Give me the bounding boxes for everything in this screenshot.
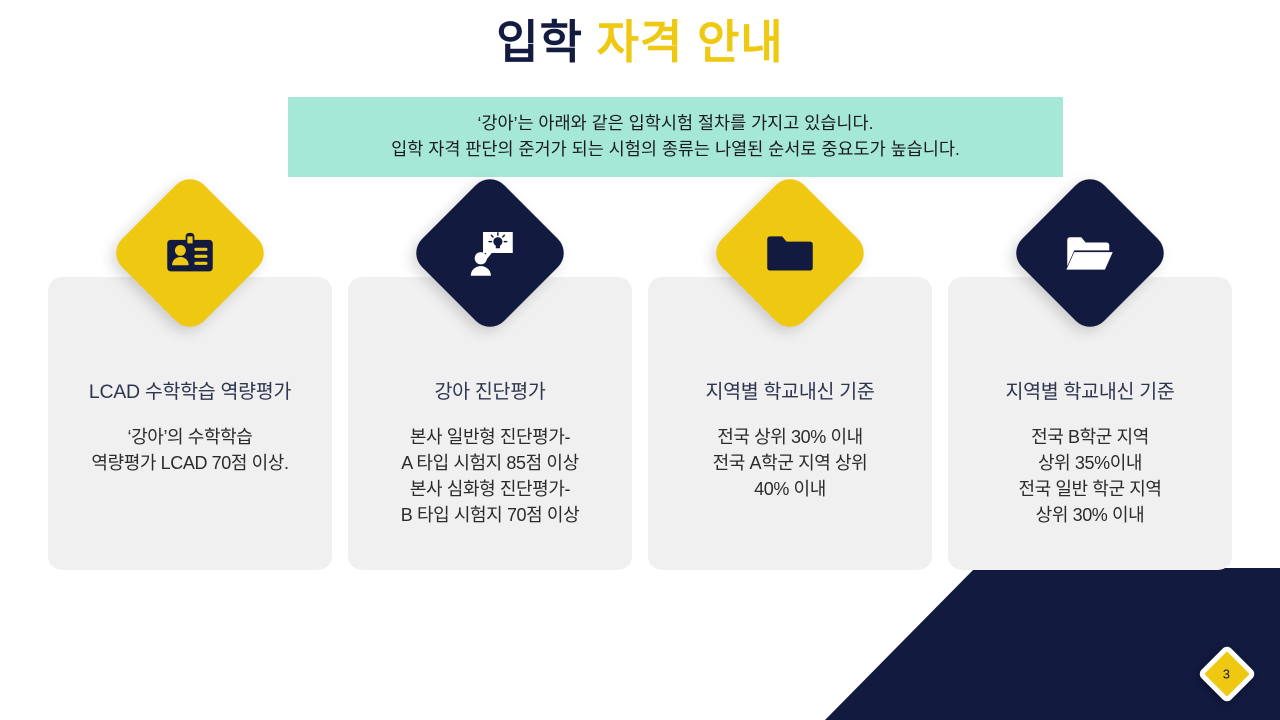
card-icon-diamond (1008, 171, 1172, 335)
card-icon-diamond (408, 171, 572, 335)
id-badge-icon (158, 221, 222, 285)
person-idea-bubble-icon (458, 221, 522, 285)
subtitle-line-1: ‘강아’는 아래와 같은 입학시험 절차를 가지고 있습니다. (477, 112, 873, 136)
card-title: LCAD 수학학습 역량평가 (89, 375, 291, 404)
card-icon-diamond (708, 171, 872, 335)
criteria-card[interactable]: 강아 진단평가 본사 일반형 진단평가- A 타입 시험지 85점 이상 본사 … (348, 277, 632, 570)
card-title: 지역별 학교내신 기준 (706, 375, 875, 404)
card-body: ‘강아’의 수학학습 역량평가 LCAD 70점 이상. (91, 424, 288, 476)
subtitle-banner: ‘강아’는 아래와 같은 입학시험 절차를 가지고 있습니다. 입학 자격 판단… (288, 97, 1063, 177)
criteria-card-row: LCAD 수학학습 역량평가 ‘강아’의 수학학습 역량평가 LCAD 70점 … (48, 277, 1232, 570)
card-body-line: B 타입 시험지 70점 이상 (401, 502, 580, 528)
page-number-label: 3 (1223, 666, 1230, 681)
card-body: 본사 일반형 진단평가- A 타입 시험지 85점 이상 본사 심화형 진단평가… (401, 424, 580, 528)
folder-closed-icon (758, 221, 822, 285)
folder-open-icon (1058, 221, 1122, 285)
card-body-line: 상위 30% 이내 (1018, 502, 1161, 528)
card-body: 전국 B학군 지역 상위 35%이내 전국 일반 학군 지역 상위 30% 이내 (1018, 424, 1161, 528)
page-title-dark: 입학 (496, 16, 583, 68)
card-body-line: 40% 이내 (713, 476, 868, 502)
page-number-badge: 3 (1197, 644, 1256, 703)
criteria-card[interactable]: LCAD 수학학습 역량평가 ‘강아’의 수학학습 역량평가 LCAD 70점 … (48, 277, 332, 570)
card-body-line: 전국 B학군 지역 (1018, 424, 1161, 450)
card-icon-diamond (108, 171, 272, 335)
card-body-line: 본사 심화형 진단평가- (401, 476, 580, 502)
card-body-line: 전국 일반 학군 지역 (1018, 476, 1161, 502)
card-body-line: 본사 일반형 진단평가- (401, 424, 580, 450)
card-body-line: 상위 35%이내 (1018, 450, 1161, 476)
card-body: 전국 상위 30% 이내 전국 A학군 지역 상위 40% 이내 (713, 424, 868, 502)
criteria-card[interactable]: 지역별 학교내신 기준 전국 상위 30% 이내 전국 A학군 지역 상위 40… (648, 277, 932, 570)
criteria-card[interactable]: 지역별 학교내신 기준 전국 B학군 지역 상위 35%이내 전국 일반 학군 … (948, 277, 1232, 570)
page-title: 입학 자격 안내 (0, 18, 1280, 66)
card-body-line: 전국 상위 30% 이내 (713, 424, 868, 450)
page-title-gold: 자격 안내 (597, 16, 784, 68)
subtitle-line-2: 입학 자격 판단의 준거가 되는 시험의 종류는 나열된 순서로 중요도가 높습… (391, 138, 960, 162)
card-body-line: A 타입 시험지 85점 이상 (401, 450, 580, 476)
card-title: 지역별 학교내신 기준 (1006, 375, 1175, 404)
card-body-line: 역량평가 LCAD 70점 이상. (91, 450, 288, 476)
card-title: 강아 진단평가 (435, 375, 546, 404)
card-body-line: 전국 A학군 지역 상위 (713, 450, 868, 476)
card-body-line: ‘강아’의 수학학습 (91, 424, 288, 450)
